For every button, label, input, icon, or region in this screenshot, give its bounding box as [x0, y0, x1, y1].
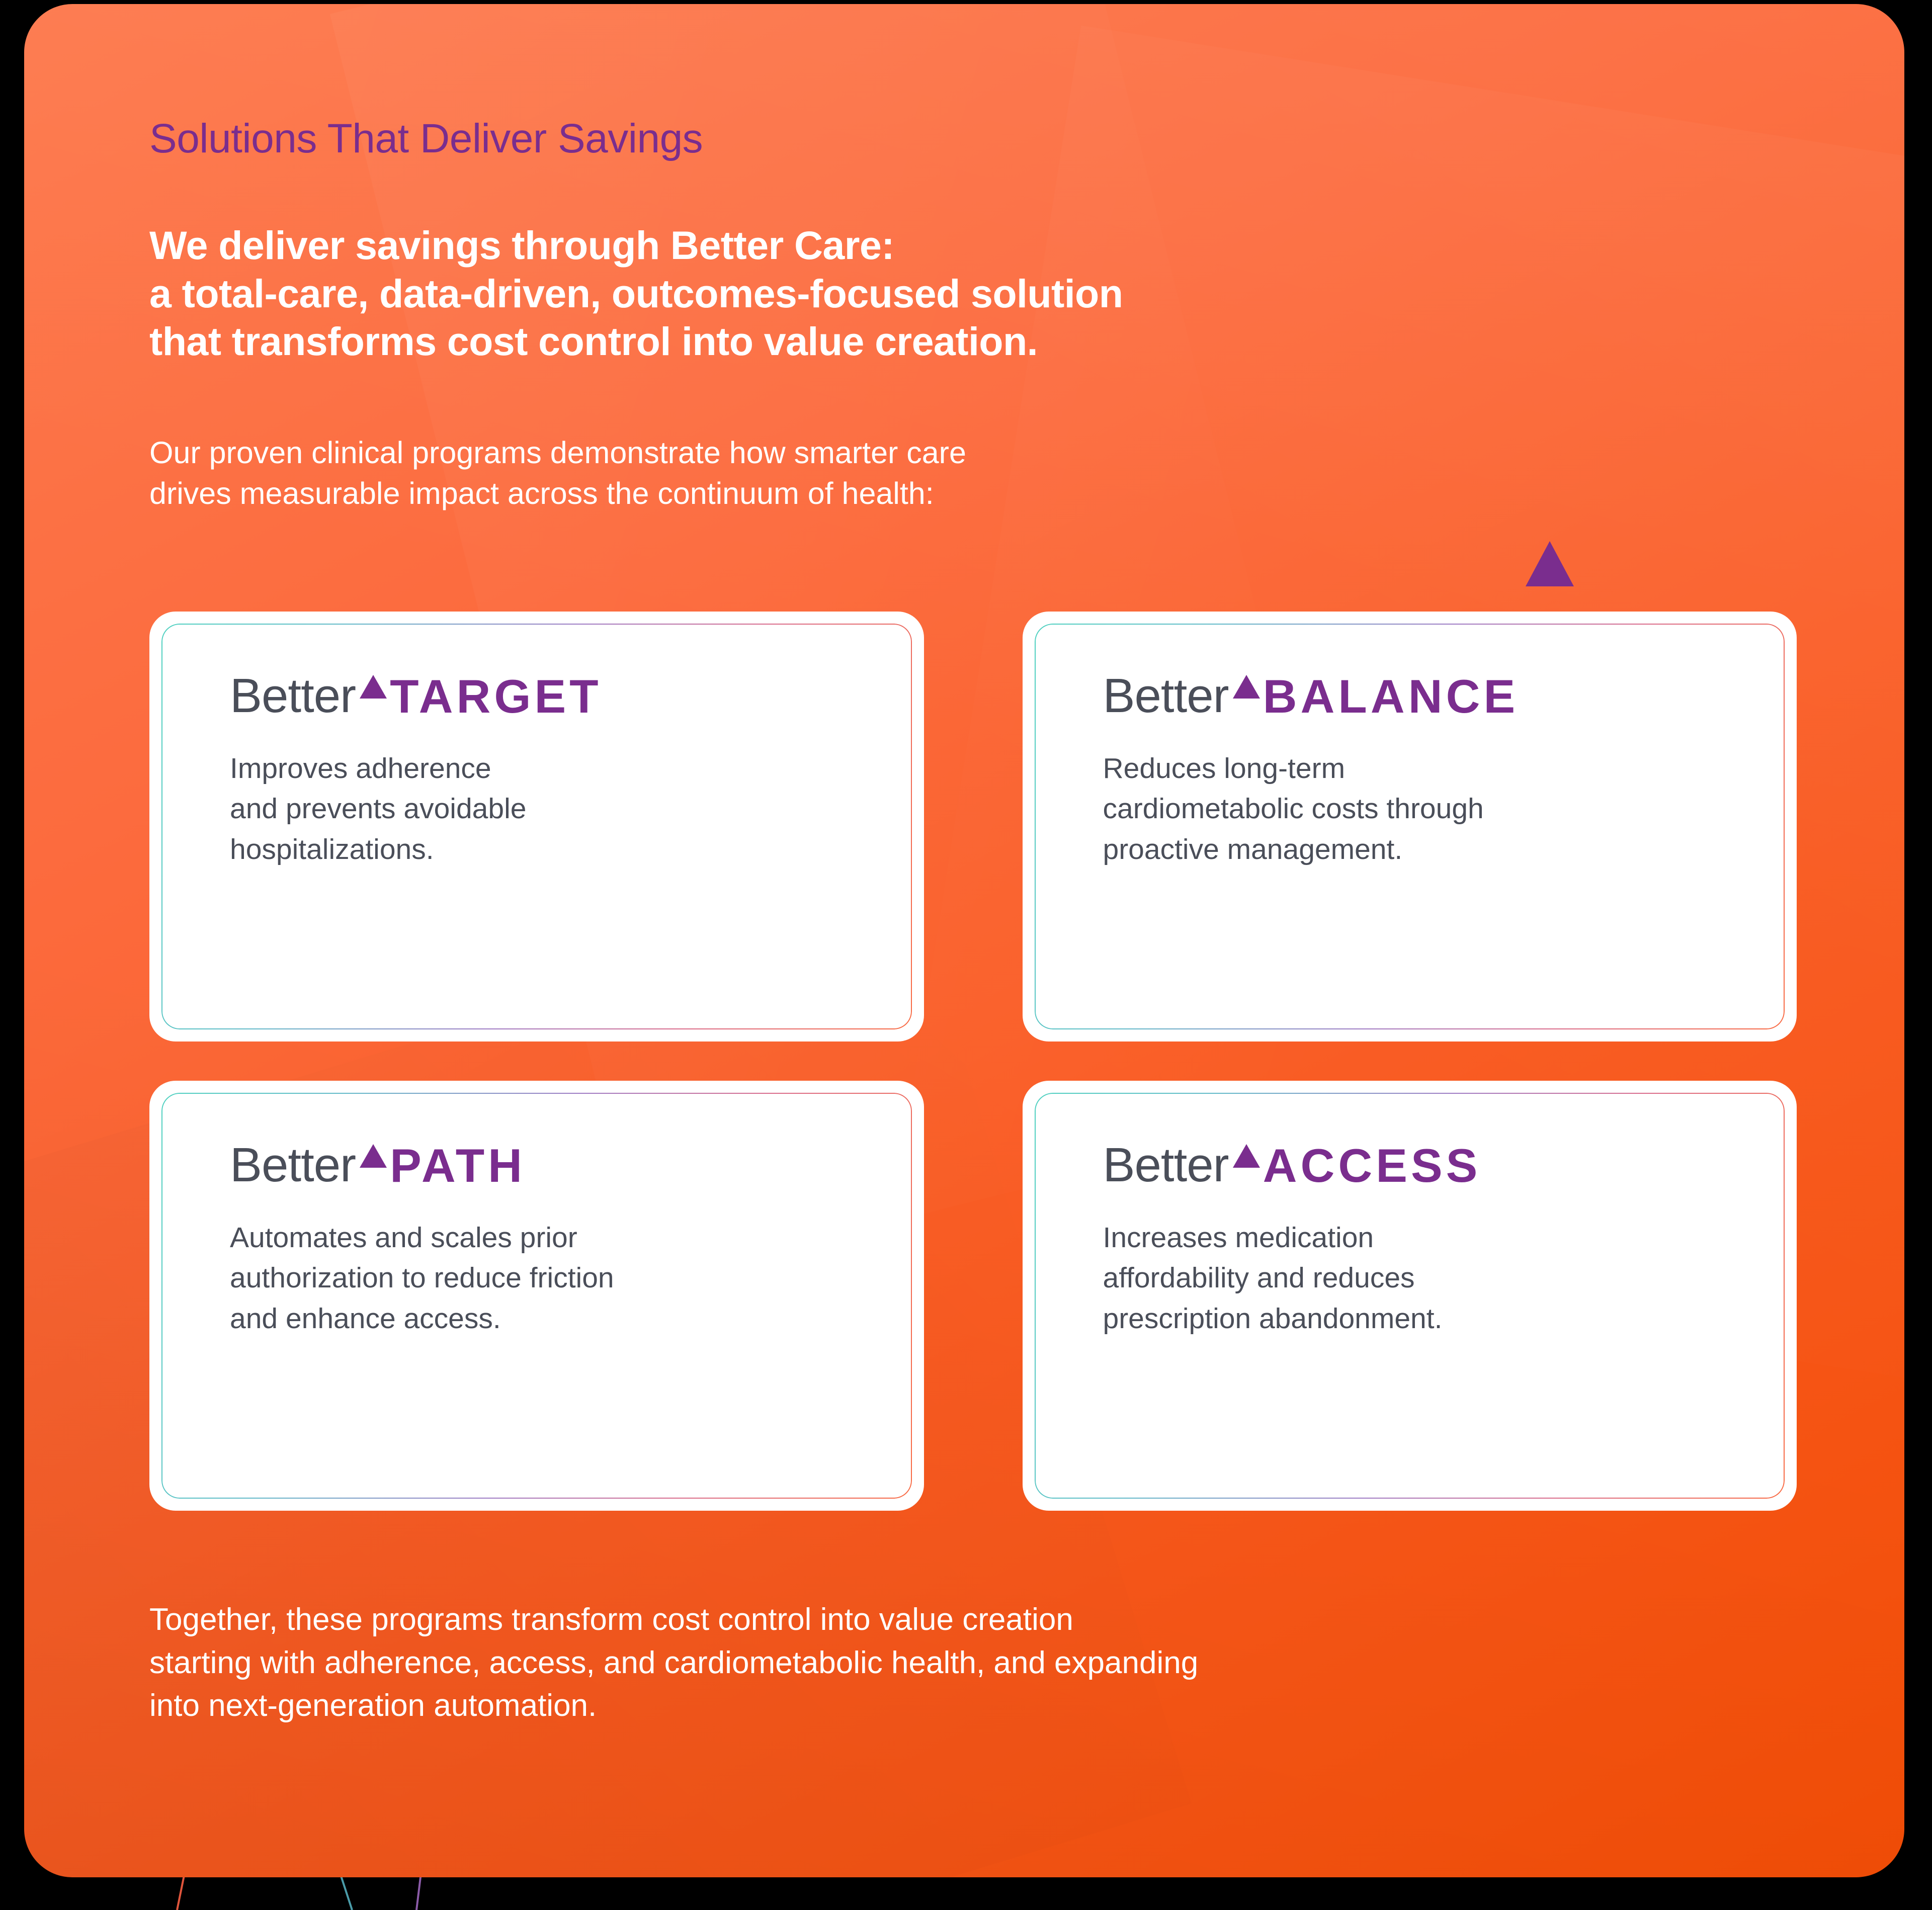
- card-content: Better BALANCE Reduces long-term cardiom…: [1103, 672, 1752, 870]
- triangle-up-icon: [360, 675, 387, 699]
- card-title: Better PATH: [230, 1141, 879, 1189]
- card-title: Better BALANCE: [1103, 672, 1752, 720]
- brand-name: ACCESS: [1263, 1142, 1481, 1189]
- card-title: Better ACCESS: [1103, 1141, 1752, 1189]
- brand-prefix: Better: [1103, 1141, 1229, 1189]
- section-subcopy: Our proven clinical programs demonstrate…: [149, 432, 966, 514]
- triangle-up-marker-icon: [1526, 541, 1574, 586]
- program-card-access[interactable]: Better ACCESS Increases medication affor…: [1023, 1081, 1797, 1511]
- card-content: Better PATH Automates and scales prior a…: [230, 1141, 879, 1339]
- triangle-up-icon: [360, 1144, 387, 1168]
- card-content: Better ACCESS Increases medication affor…: [1103, 1141, 1752, 1339]
- section-eyebrow: Solutions That Deliver Savings: [149, 118, 703, 159]
- brand-prefix: Better: [1103, 672, 1229, 720]
- brand-prefix: Better: [230, 672, 356, 720]
- program-card-path[interactable]: Better PATH Automates and scales prior a…: [149, 1081, 924, 1511]
- card-description: Automates and scales prior authorization…: [230, 1218, 879, 1339]
- triangle-up-icon: [1233, 1144, 1260, 1168]
- brand-name: PATH: [390, 1142, 526, 1189]
- brand-name: BALANCE: [1263, 673, 1519, 720]
- section-headline: We deliver savings through Better Care: …: [149, 221, 1123, 366]
- card-content: Better TARGET Improves adherence and pre…: [230, 672, 879, 870]
- card-title: Better TARGET: [230, 672, 879, 720]
- triangle-up-icon: [1233, 675, 1260, 699]
- card-description: Reduces long-term cardiometabolic costs …: [1103, 748, 1752, 870]
- section-footer: Together, these programs transform cost …: [149, 1598, 1198, 1727]
- brand-name: TARGET: [390, 673, 602, 720]
- program-card-balance[interactable]: Better BALANCE Reduces long-term cardiom…: [1023, 612, 1797, 1041]
- card-description: Improves adherence and prevents avoidabl…: [230, 748, 879, 870]
- brand-prefix: Better: [230, 1141, 356, 1189]
- card-description: Increases medication affordability and r…: [1103, 1218, 1752, 1339]
- program-card-target[interactable]: Better TARGET Improves adherence and pre…: [149, 612, 924, 1041]
- program-card-grid: Better TARGET Improves adherence and pre…: [149, 612, 1797, 1511]
- panel-content: Solutions That Deliver Savings We delive…: [0, 0, 1932, 1910]
